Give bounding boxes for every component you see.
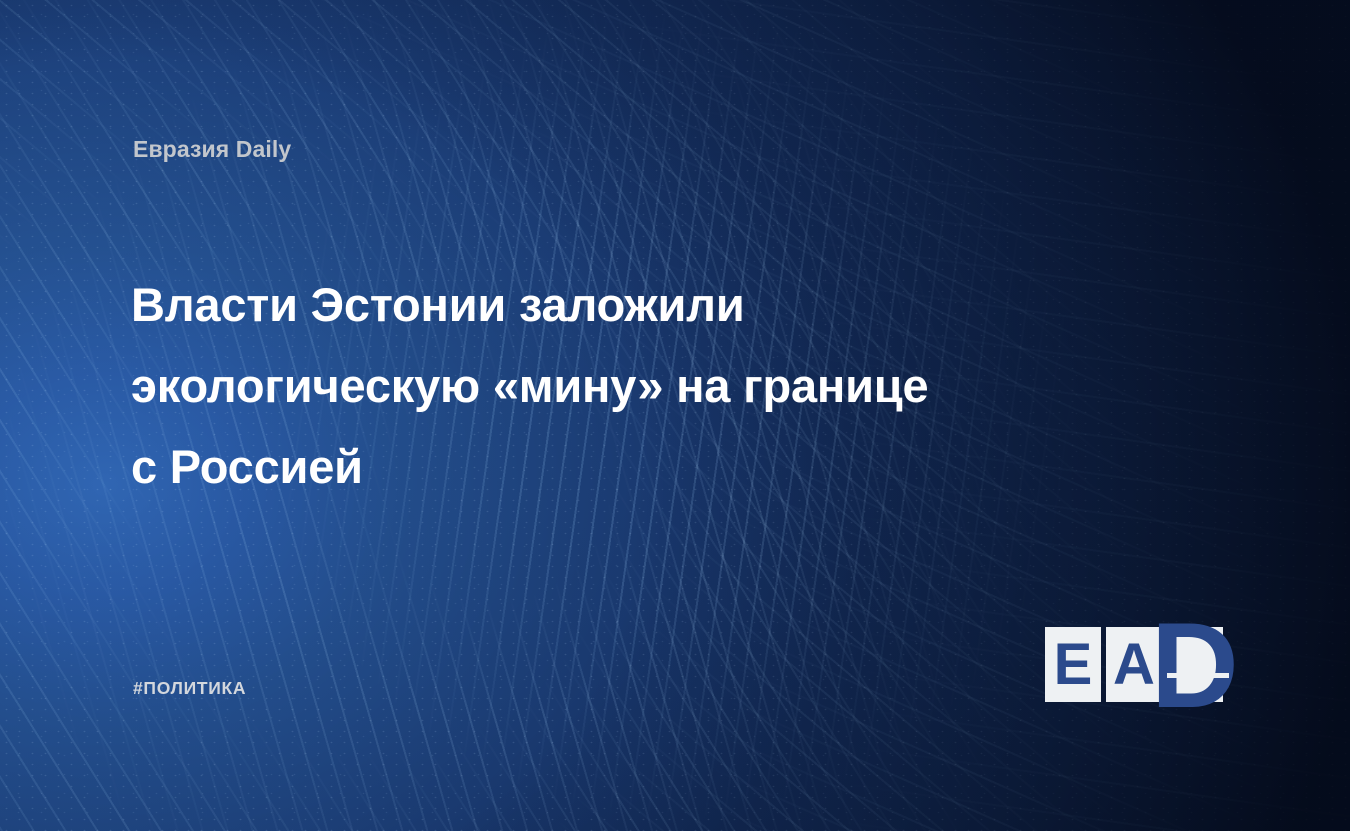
- eadaily-logo[interactable]: E A D: [1045, 627, 1223, 713]
- headline-line-2: экологическую «мину» на границе: [131, 345, 1091, 426]
- logo-letter-e: E: [1054, 636, 1093, 694]
- logo-tile-e: E: [1045, 627, 1101, 702]
- news-share-card: Евразия Daily Власти Эстонии заложили эк…: [0, 0, 1350, 831]
- card-content: Евразия Daily Власти Эстонии заложили эк…: [0, 0, 1350, 831]
- logo-d-split-strip: [1167, 673, 1229, 678]
- logo-letter-a: A: [1113, 636, 1155, 694]
- headline: Власти Эстонии заложили экологическую «м…: [131, 264, 1091, 507]
- headline-line-3: с Россией: [131, 426, 1091, 507]
- logo-letter-d: D: [1151, 604, 1235, 726]
- brand-name: Евразия Daily: [133, 136, 291, 163]
- logo-tile-d: D: [1167, 627, 1223, 702]
- category-tag-politics[interactable]: #ПОЛИТИКА: [133, 678, 246, 699]
- headline-line-1: Власти Эстонии заложили: [131, 264, 1091, 345]
